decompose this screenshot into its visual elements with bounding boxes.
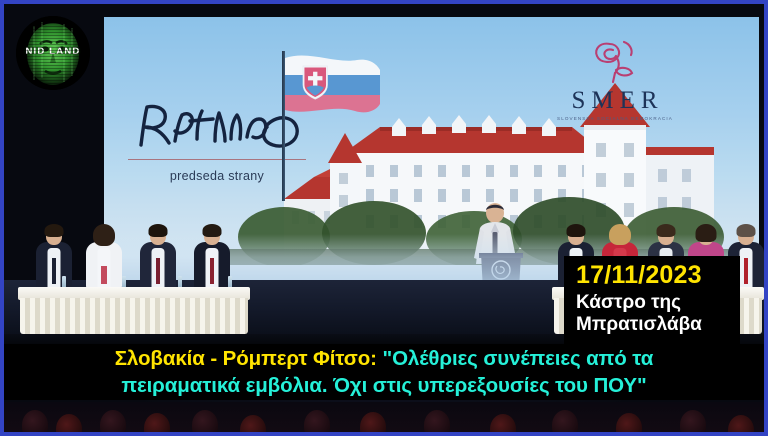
caption-quote-start: "Ολέθριες συνέπειες από τα [377,347,653,370]
caption-line-2: πειραματικά εμβόλια. Όχι στις υπερεξουσί… [121,372,646,399]
panelist-4 [192,226,232,288]
matrix-face-logo: NID LAND [16,16,90,90]
date-location-overlay: 17/11/2023 Κάστρο της Μπρατισλάβα [564,256,740,344]
logo-scanlines [16,16,90,90]
left-panel-table [18,216,250,334]
handwritten-signature-icon [127,95,307,157]
location-line-2: Μπρατισλάβα [576,314,740,335]
rose-icon [586,35,644,87]
smer-wordmark: SMER [549,88,681,113]
panelist-1 [34,226,74,288]
left-table-skirt [20,298,248,334]
subtitle-caption: Σλοβακία - Ρόμπερτ Φίτσο: "Ολέθριες συνέ… [4,344,764,400]
location-line-1: Κάστρο της [576,292,740,313]
panelist-2 [84,226,124,288]
video-frame: predseda strany [0,0,768,436]
panelist-3 [138,226,178,288]
smer-logo: SMER SLOVENSKA SOCIALNA DEMOKRACIA [549,35,681,121]
caption-line-1: Σλοβακία - Ρόμπερτ Φίτσο: "Ολέθριες συνέ… [115,345,654,372]
smer-subtitle: SLOVENSKA SOCIALNA DEMOKRACIA [549,116,681,121]
audience-silhouettes [4,402,764,432]
signature-rule [128,159,306,160]
date-text: 17/11/2023 [576,262,740,288]
left-panelists [18,226,250,288]
caption-speaker-label: Σλοβακία - Ρόμπερτ Φίτσο: [115,347,377,370]
slovak-flag [285,54,381,116]
